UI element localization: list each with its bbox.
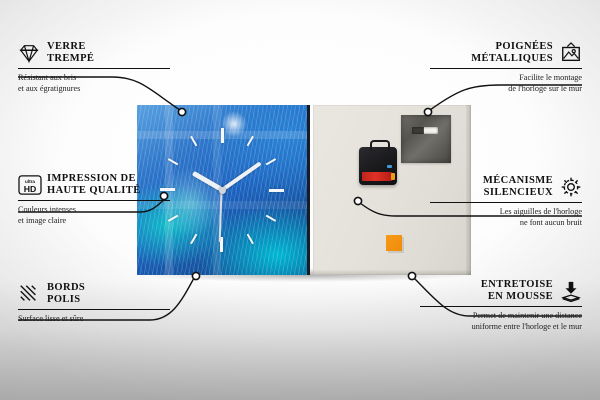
callout-description: Résistant aux briset aux égratignures [18, 73, 170, 94]
diamond-icon [18, 42, 40, 64]
callout-header: ENTRETOISEEN MOUSSE [420, 279, 582, 303]
callout-header: BORDSPOLIS [18, 282, 170, 306]
callout-description: Surface lisse et sûre [18, 314, 170, 325]
callout-verre-trempe[interactable]: VERRETREMPÉ Résistant aux briset aux égr… [18, 41, 170, 94]
callout-title: BORDSPOLIS [47, 282, 85, 306]
callout-rule [420, 306, 582, 307]
callout-description: Couleurs intenseset image claire [18, 205, 170, 226]
callout-header: POIGNÉESMÉTALLIQUES [430, 41, 582, 65]
callout-title: POIGNÉESMÉTALLIQUES [471, 41, 553, 65]
callout-impression-hd[interactable]: ultra HD IMPRESSION DEHAUTE QUALITÉ Coul… [18, 173, 170, 226]
clock-mechanism [359, 147, 397, 185]
ultra-hd-icon: ultra HD [18, 174, 40, 196]
callout-rule [430, 68, 582, 69]
callout-title: VERRETREMPÉ [47, 41, 94, 65]
product-infographic: VERRETREMPÉ Résistant aux briset aux égr… [0, 0, 600, 400]
callout-rule [18, 200, 170, 201]
callout-bords-polis[interactable]: BORDSPOLIS Surface lisse et sûre [18, 282, 170, 325]
callout-entretoise-en-mousse[interactable]: ENTRETOISEEN MOUSSE Permet de maintenir … [420, 279, 582, 332]
callout-rule [18, 68, 170, 69]
callout-poignees-metalliques[interactable]: POIGNÉESMÉTALLIQUES Facilite le montaged… [430, 41, 582, 94]
callout-title: IMPRESSION DEHAUTE QUALITÉ [47, 173, 141, 197]
product-photo [137, 105, 471, 275]
down-arrow-onto-surface-icon [560, 280, 582, 302]
clock-minute-hand [221, 161, 262, 191]
polished-edge-icon [18, 283, 40, 305]
picture-frame-hanger-icon [560, 42, 582, 64]
callout-header: ultra HD IMPRESSION DEHAUTE QUALITÉ [18, 173, 170, 197]
foam-spacer [386, 235, 402, 251]
callout-title: ENTRETOISEEN MOUSSE [481, 279, 553, 303]
callout-header: MÉCANISMESILENCIEUX [430, 175, 582, 199]
callout-rule [430, 202, 582, 203]
callout-title: MÉCANISMESILENCIEUX [483, 175, 553, 199]
svg-text:HD: HD [24, 184, 37, 194]
callout-rule [18, 309, 170, 310]
metal-hanger-plate [401, 115, 451, 163]
callout-mecanisme-silencieux[interactable]: MÉCANISMESILENCIEUX Les aiguilles de l'h… [430, 175, 582, 228]
battery [362, 172, 392, 181]
clock-center-pin [219, 187, 226, 194]
callout-description: Facilite le montagede l'horloge sur le m… [430, 73, 582, 94]
callout-header: VERRETREMPÉ [18, 41, 170, 65]
gear-icon [560, 176, 582, 198]
callout-description: Les aiguilles de l'horlogene font aucun … [430, 207, 582, 228]
callout-description: Permet de maintenir une distanceuniforme… [420, 311, 582, 332]
